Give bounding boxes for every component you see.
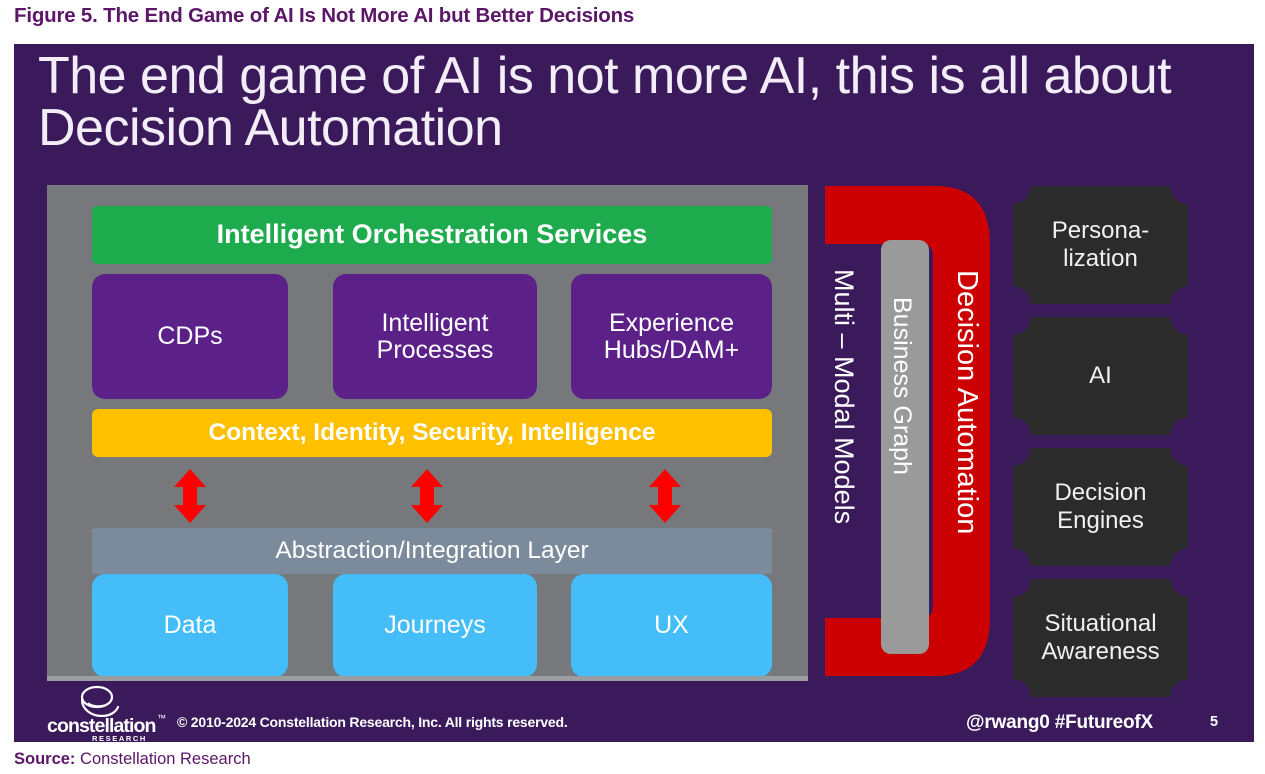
card-data: Data bbox=[92, 574, 288, 677]
double-arrow-icon-3 bbox=[645, 469, 685, 523]
social-handle: @rwang0 #FutureofX bbox=[966, 712, 1153, 734]
architecture-stack-panel: Intelligent Orchestration Services CDPs … bbox=[47, 185, 808, 676]
figure-caption: Figure 5. The End Game of AI Is Not More… bbox=[14, 4, 634, 28]
source-value: Constellation Research bbox=[80, 750, 251, 768]
logo-subtitle: RESEARCH bbox=[92, 734, 147, 742]
outcome-line-1: Situational bbox=[1041, 610, 1159, 638]
slide-heading: The end game of AI is not more AI, this … bbox=[38, 50, 1218, 154]
context-identity-security-intelligence-bar: Context, Identity, Security, Intelligenc… bbox=[92, 409, 772, 457]
outcome-box-ai: AI bbox=[1013, 317, 1188, 435]
outcome-box-decision-engines: Decision Engines bbox=[1013, 448, 1188, 566]
page-number: 5 bbox=[1210, 714, 1218, 730]
logo-trademark-icon: ™ bbox=[157, 713, 166, 723]
double-arrow-icon-2 bbox=[407, 469, 447, 523]
outcome-box-situational-awareness: Situational Awareness bbox=[1013, 579, 1188, 697]
decision-automation-label: Decision Automation bbox=[952, 270, 981, 670]
card-ux: UX bbox=[571, 574, 772, 677]
constellation-swirl-icon bbox=[77, 685, 121, 717]
copyright-text: © 2010-2024 Constellation Research, Inc.… bbox=[177, 714, 568, 730]
outcome-line-1: Persona- bbox=[1052, 217, 1149, 245]
abstraction-integration-layer-bar: Abstraction/Integration Layer bbox=[92, 528, 772, 574]
source-label: Source: bbox=[14, 750, 75, 768]
slide: The end game of AI is not more AI, this … bbox=[14, 44, 1254, 742]
figure-container: Figure 5. The End Game of AI Is Not More… bbox=[0, 0, 1265, 774]
double-arrow-icon-1 bbox=[170, 469, 210, 523]
constellation-logo: constellation ™ RESEARCH bbox=[47, 685, 169, 737]
outcome-line-1: Decision bbox=[1054, 479, 1146, 507]
card-experience-hubs-dam: Experience Hubs/DAM+ bbox=[571, 274, 772, 399]
source-line: Source: Constellation Research bbox=[14, 750, 251, 769]
outcome-line-2: Awareness bbox=[1041, 638, 1159, 666]
card-cdps: CDPs bbox=[92, 274, 288, 399]
card-intelligent-processes: Intelligent Processes bbox=[333, 274, 537, 399]
multi-modal-models-label: Multi – Modal Models bbox=[830, 269, 857, 629]
outcome-line-2: lization bbox=[1052, 245, 1149, 273]
intelligent-orchestration-services-bar: Intelligent Orchestration Services bbox=[92, 206, 772, 264]
card-journeys: Journeys bbox=[333, 574, 537, 677]
outcome-line-2: Engines bbox=[1054, 507, 1146, 535]
footer-divider bbox=[47, 676, 808, 681]
outcome-box-personalization: Persona- lization bbox=[1013, 186, 1188, 304]
business-graph-label: Business Graph bbox=[887, 297, 916, 597]
outcome-line-1: AI bbox=[1089, 362, 1112, 390]
